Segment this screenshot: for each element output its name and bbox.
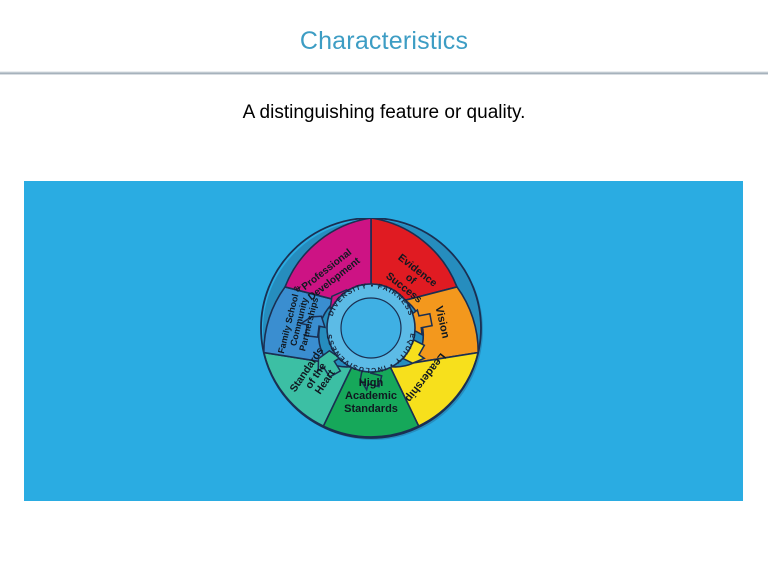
wheel-svg: DIVERSITY • FAIRNESS EQUITY • INCLUSIVEN… bbox=[258, 218, 484, 440]
image-panel: DIVERSITY • FAIRNESS EQUITY • INCLUSIVEN… bbox=[24, 181, 743, 501]
label-line: High bbox=[359, 377, 384, 389]
page-title: Characteristics bbox=[0, 26, 768, 56]
characteristics-wheel-diagram: DIVERSITY • FAIRNESS EQUITY • INCLUSIVEN… bbox=[258, 218, 484, 440]
label-line: Academic bbox=[345, 390, 397, 402]
slide-header: Characteristics bbox=[0, 0, 768, 74]
label-line: Standards bbox=[344, 403, 398, 415]
header-divider bbox=[0, 71, 768, 75]
center-hub-inner bbox=[341, 298, 401, 358]
slide-subtitle: A distinguishing feature or quality. bbox=[0, 100, 768, 126]
